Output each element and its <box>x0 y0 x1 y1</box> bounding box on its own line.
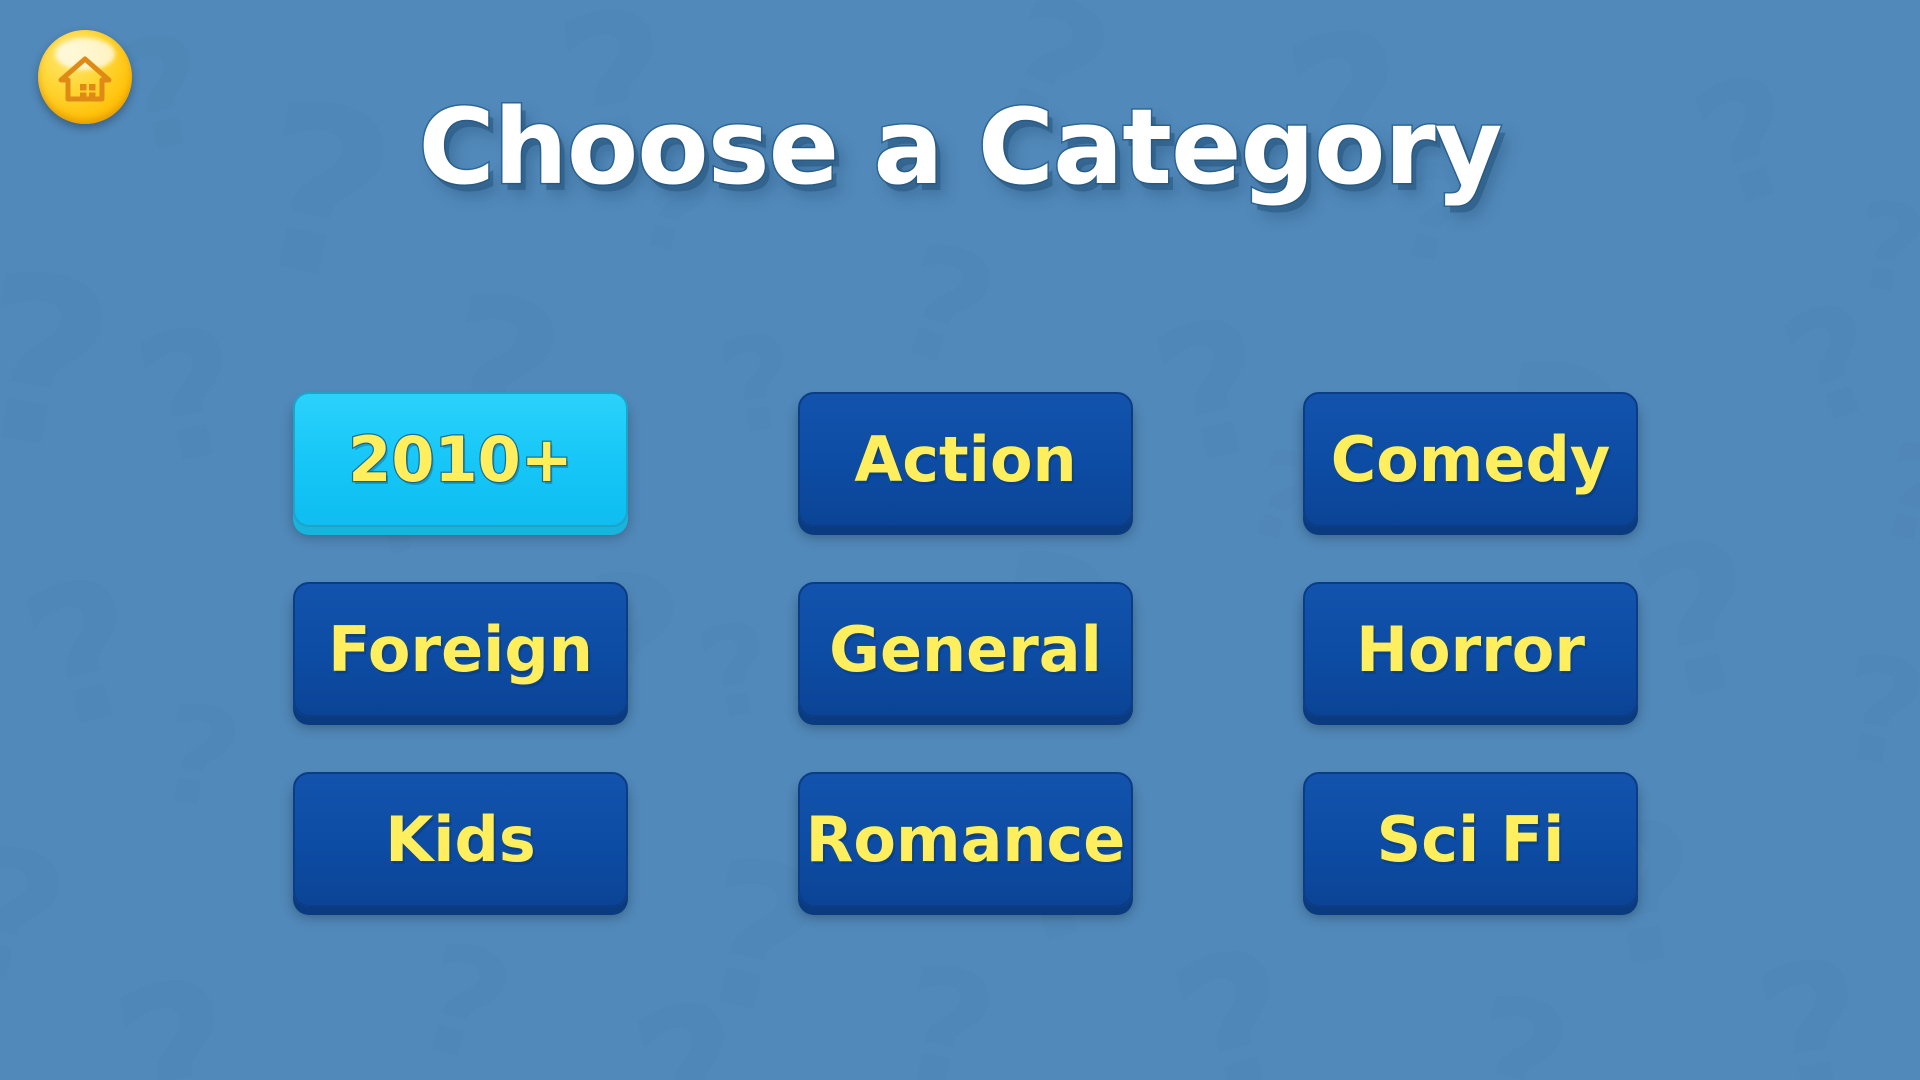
category-button-kids[interactable]: Kids <box>293 772 628 907</box>
category-button-label: Horror <box>1356 619 1585 681</box>
category-button-romance[interactable]: Romance <box>798 772 1133 907</box>
category-button-label: Comedy <box>1331 429 1611 491</box>
category-button-horror[interactable]: Horror <box>1303 582 1638 717</box>
category-button-general[interactable]: General <box>798 582 1133 717</box>
category-select-screen: Choose a Category 2010+ Action Comedy Fo… <box>0 0 1920 1080</box>
category-button-label: General <box>829 619 1102 681</box>
category-button-label: Kids <box>385 809 536 871</box>
category-button-label: Sci Fi <box>1377 809 1565 871</box>
category-button-foreign[interactable]: Foreign <box>293 582 628 717</box>
category-button-label: Romance <box>806 809 1126 871</box>
category-button-action[interactable]: Action <box>798 392 1133 527</box>
category-button-label: Foreign <box>328 619 593 681</box>
category-button-2010plus[interactable]: 2010+ <box>293 392 628 527</box>
category-grid: 2010+ Action Comedy Foreign General Horr… <box>293 392 1638 907</box>
category-button-scifi[interactable]: Sci Fi <box>1303 772 1638 907</box>
category-button-label: 2010+ <box>348 429 573 491</box>
page-title: Choose a Category <box>0 86 1920 208</box>
category-button-label: Action <box>854 429 1076 491</box>
category-button-comedy[interactable]: Comedy <box>1303 392 1638 527</box>
